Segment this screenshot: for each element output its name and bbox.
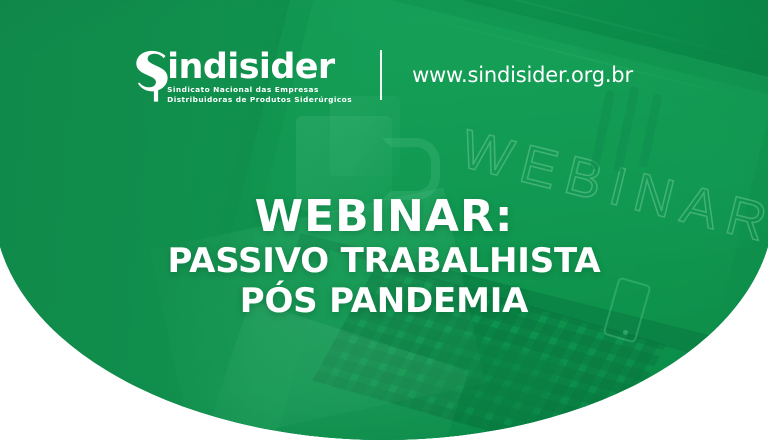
webinar-banner: WEBINAR xyxy=(0,0,768,448)
website-url[interactable]: www.sindisider.org.br xyxy=(412,63,633,87)
logo-wordmark: indisider xyxy=(167,51,352,84)
banner-header: indisider Sindicato Nacional das Empresa… xyxy=(0,42,768,108)
sindisider-logo[interactable]: indisider Sindicato Nacional das Empresa… xyxy=(135,50,352,105)
headline-block: WEBINAR: PASSIVO TRABALHISTA PÓS PANDEMI… xyxy=(0,193,768,321)
logo-s-icon xyxy=(135,50,169,102)
headline-line-1: WEBINAR: xyxy=(0,193,768,241)
headline-line-3: PÓS PANDEMIA xyxy=(0,281,768,321)
logo-tagline-line2: Distribuidoras de Produtos Siderúrgicos xyxy=(167,95,352,104)
header-divider xyxy=(380,50,382,100)
headline-line-2: PASSIVO TRABALHISTA xyxy=(0,241,768,281)
